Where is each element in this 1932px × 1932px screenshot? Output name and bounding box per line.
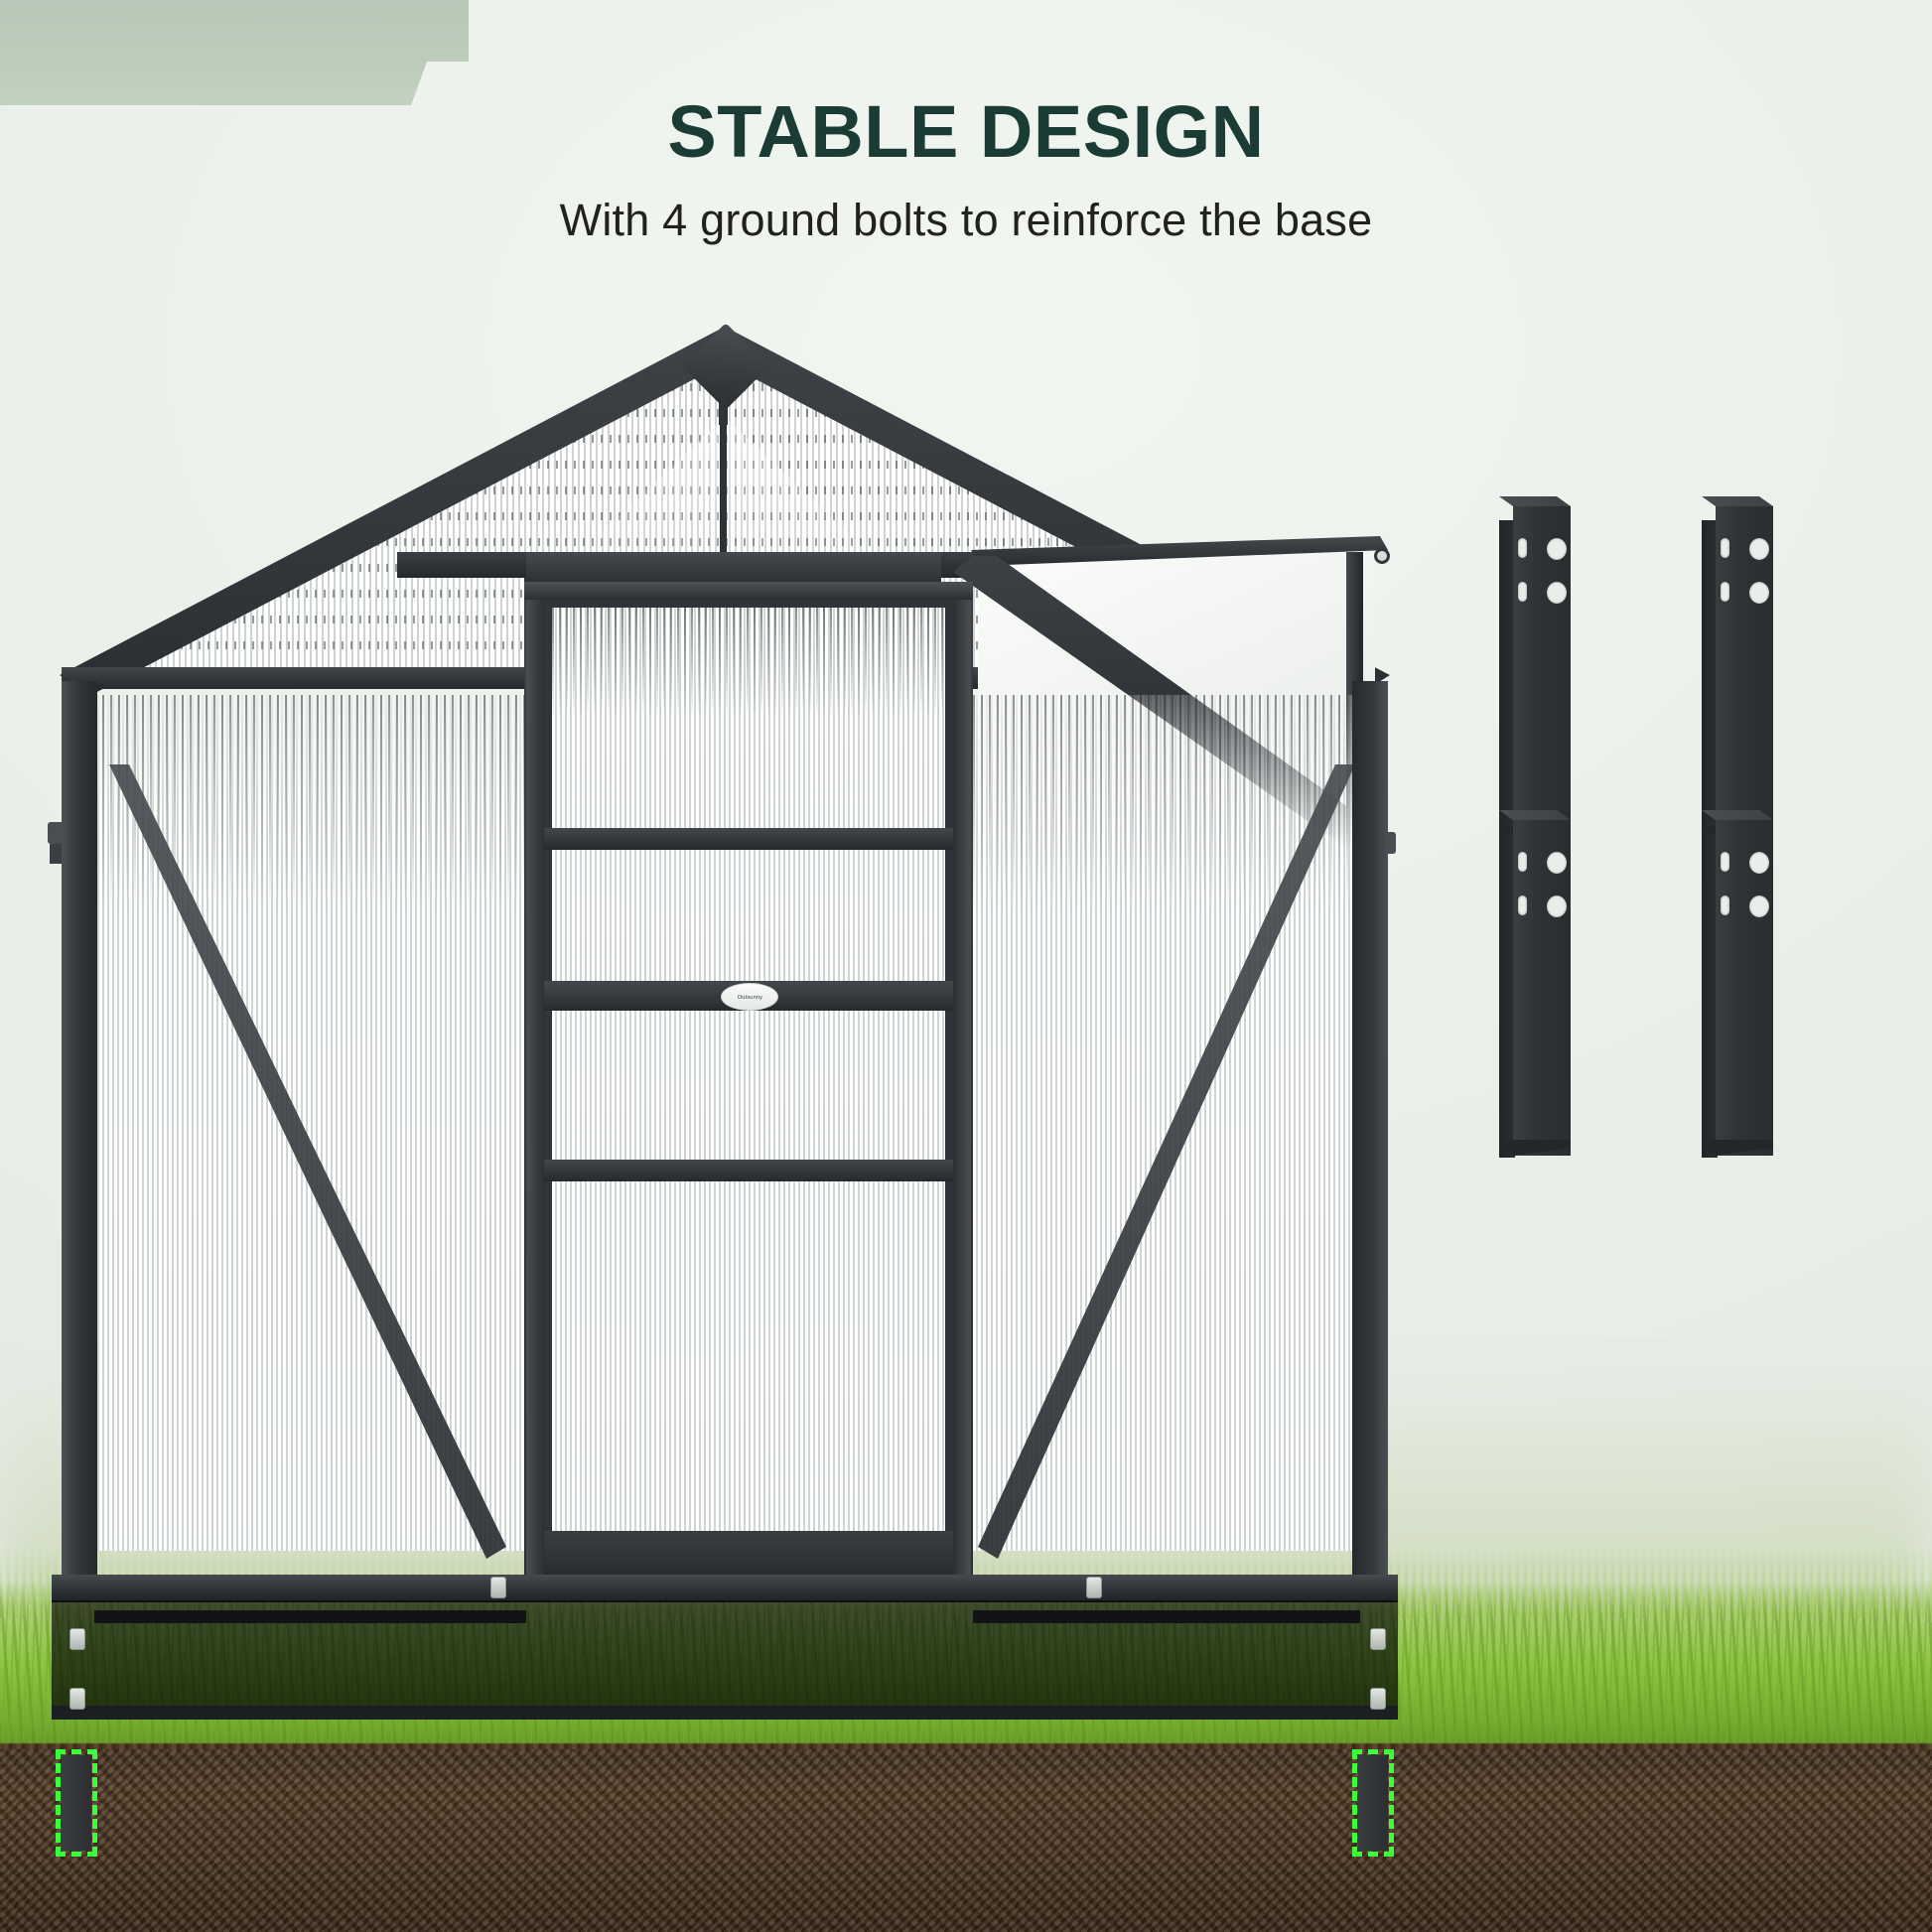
ground-bolt-3-hole-c	[1518, 852, 1527, 872]
base-bolt-head-left-2	[69, 1688, 85, 1710]
brand-logo-text: Outsunny	[737, 994, 761, 1000]
door-stile-right	[953, 596, 971, 1588]
base-frame-bottom-edge	[52, 1706, 1398, 1720]
ground-bolts-group	[1499, 496, 1926, 1172]
ground-bolt-4-hole-b	[1749, 896, 1769, 917]
ground-bolt-2-hole-c	[1721, 538, 1729, 558]
ground-bolt-4-hole-d	[1721, 896, 1729, 915]
ground-bolt-1-hole-a	[1547, 538, 1567, 560]
buried-anchor-right-highlight	[1352, 1749, 1394, 1857]
ground-bolt-3	[1499, 810, 1571, 1158]
roof-peak-finial-stem	[719, 389, 728, 425]
gable-crossbeam-left-extension	[397, 552, 526, 578]
ground-bolt-1	[1499, 496, 1571, 844]
gable-crossbeam	[524, 552, 941, 586]
ground-bolt-1-hole-d	[1518, 582, 1527, 602]
door-stile-left	[526, 596, 544, 1588]
door-track	[524, 582, 973, 600]
corner-post-left	[62, 681, 97, 1575]
wall-panel-left-texture	[94, 695, 526, 913]
door-panel-4	[552, 1181, 945, 1531]
ground-bolt-4-hole-a	[1749, 852, 1769, 874]
base-frame-rail	[52, 1575, 1398, 1602]
ground-bolt-2	[1702, 496, 1773, 844]
base-frame-skirt	[52, 1600, 1398, 1712]
brand-logo-badge: Outsunny	[721, 983, 778, 1011]
ground-bolt-2-hole-b	[1749, 582, 1769, 604]
ground-bolt-4	[1702, 810, 1773, 1158]
base-bolt-head-left-1	[69, 1628, 85, 1650]
ground-bolt-2-hole-d	[1721, 582, 1729, 602]
base-bolt-head-door-left	[490, 1577, 506, 1598]
ground-bolt-2-hole-a	[1749, 538, 1769, 560]
base-bolt-head-right-2	[1370, 1688, 1386, 1710]
ground-bolt-1-hole-b	[1547, 582, 1567, 604]
door-rail-3	[540, 1160, 957, 1181]
corner-post-right	[1352, 681, 1388, 1575]
door-panel-3	[552, 1011, 945, 1160]
door-panel-2	[552, 850, 945, 981]
base-bolt-head-right-1	[1370, 1628, 1386, 1650]
ground-bolt-1-hole-c	[1518, 538, 1527, 558]
door-rail-1	[540, 828, 957, 850]
ground-bolt-4-hole-c	[1721, 852, 1729, 872]
product-image-canvas: STABLE DESIGN With 4 ground bolts to rei…	[0, 0, 1932, 1932]
door-panel-1-texture	[552, 608, 945, 717]
side-roof-vent-hinge-pin-icon	[1374, 548, 1390, 564]
ground-bolt-3-hole-d	[1518, 896, 1527, 915]
ground-bolt-3-hole-a	[1547, 852, 1567, 874]
base-bolt-head-door-right	[1086, 1577, 1102, 1598]
ground-bolt-3-hole-b	[1547, 896, 1567, 917]
buried-anchor-left-highlight	[56, 1749, 97, 1857]
